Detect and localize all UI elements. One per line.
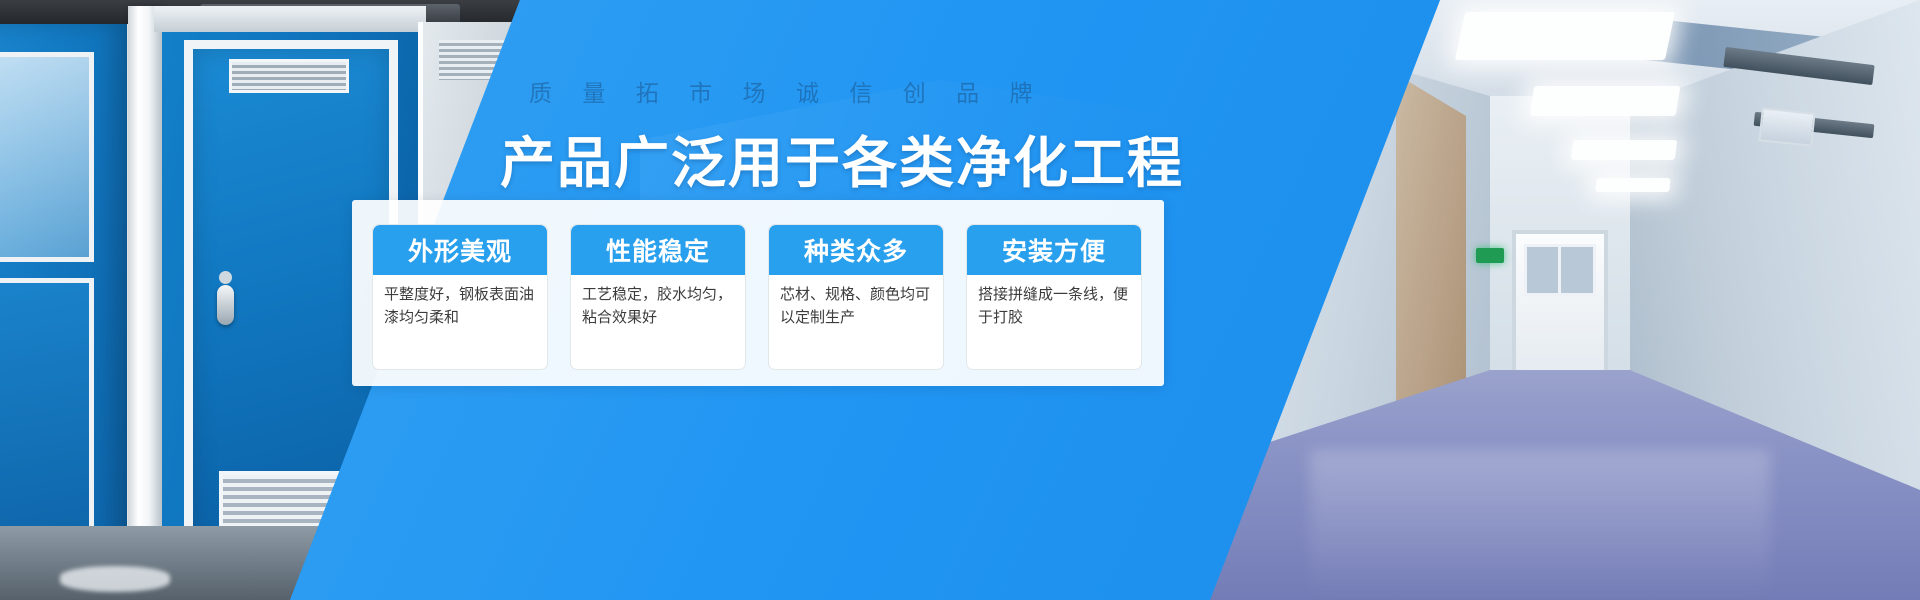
feature-card[interactable]: 外形美观 平整度好，钢板表面油漆均匀柔和 [372,224,548,370]
feature-card-body: 芯材、规格、颜色均可以定制生产 [769,275,943,369]
feature-cards-row: 外形美观 平整度好，钢板表面油漆均匀柔和 性能稳定 工艺稳定，胶水均匀，粘合效果… [372,224,1144,370]
feature-card[interactable]: 种类众多 芯材、规格、颜色均可以定制生产 [768,224,944,370]
feature-card-body: 搭接拼缝成一条线，便于打胶 [967,275,1141,369]
feature-cards-panel: 外形美观 平整度好，钢板表面油漆均匀柔和 性能稳定 工艺稳定，胶水均匀，粘合效果… [352,200,1164,386]
banner-headline: 产品广泛用于各类净化工程 [500,118,1184,198]
feature-card-body: 工艺稳定，胶水均匀，粘合效果好 [571,275,745,369]
banner-subtitle: 质 量 拓 市 场 诚 信 创 品 牌 [529,74,1049,108]
feature-card-title: 种类众多 [769,225,943,275]
feature-card-title: 性能稳定 [571,225,745,275]
banner-content: 质 量 拓 市 场 诚 信 创 品 牌 产品广泛用于各类净化工程 外形美观 平整… [0,0,1920,600]
feature-card-title: 安装方便 [967,225,1141,275]
feature-card-title: 外形美观 [373,225,547,275]
feature-card[interactable]: 性能稳定 工艺稳定，胶水均匀，粘合效果好 [570,224,746,370]
feature-card[interactable]: 安装方便 搭接拼缝成一条线，便于打胶 [966,224,1142,370]
feature-card-body: 平整度好，钢板表面油漆均匀柔和 [373,275,547,369]
promotional-banner: 质 量 拓 市 场 诚 信 创 品 牌 产品广泛用于各类净化工程 外形美观 平整… [0,0,1920,600]
